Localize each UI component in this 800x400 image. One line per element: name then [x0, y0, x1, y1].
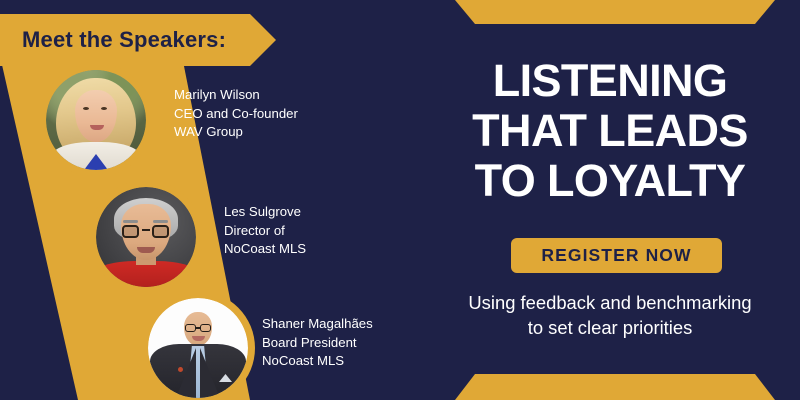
- speaker-photo-3: [148, 298, 248, 398]
- speaker-org-3: NoCoast MLS: [262, 352, 373, 371]
- subheadline-line-1: Using feedback and benchmarking: [432, 290, 788, 315]
- page-title: LISTENING THAT LEADS TO LOYALTY: [430, 56, 790, 206]
- speaker-name-1: Marilyn Wilson: [174, 86, 298, 105]
- headline-line-1: LISTENING: [430, 56, 790, 106]
- speakers-banner: Meet the Speakers:: [0, 14, 276, 66]
- speaker-name-3: Shaner Magalhães: [262, 315, 373, 334]
- speaker-photo-1: [46, 70, 146, 170]
- headline-line-3: TO LOYALTY: [430, 156, 790, 206]
- subheadline: Using feedback and benchmarking to set c…: [432, 290, 788, 340]
- speaker-info-3: Shaner Magalhães Board President NoCoast…: [262, 315, 373, 371]
- speaker-role-2: Director of: [224, 222, 306, 241]
- speaker-org-2: NoCoast MLS: [224, 240, 306, 259]
- speaker-org-1: WAV Group: [174, 123, 298, 142]
- speakers-banner-label: Meet the Speakers:: [22, 27, 226, 53]
- top-trapezoid-accent: [455, 0, 775, 24]
- subheadline-line-2: to set clear priorities: [432, 315, 788, 340]
- bottom-trapezoid-accent: [455, 374, 775, 400]
- speaker-role-3: Board President: [262, 334, 373, 353]
- speaker-name-2: Les Sulgrove: [224, 203, 306, 222]
- register-now-button[interactable]: REGISTER NOW: [511, 238, 722, 273]
- webinar-promo-banner: Meet the Speakers: Marilyn Wilson CEO an…: [0, 0, 800, 400]
- speaker-role-1: CEO and Co-founder: [174, 105, 298, 124]
- speaker-info-1: Marilyn Wilson CEO and Co-founder WAV Gr…: [174, 86, 298, 142]
- speaker-photo-2: [96, 187, 196, 287]
- headline-line-2: THAT LEADS: [430, 106, 790, 156]
- speaker-info-2: Les Sulgrove Director of NoCoast MLS: [224, 203, 306, 259]
